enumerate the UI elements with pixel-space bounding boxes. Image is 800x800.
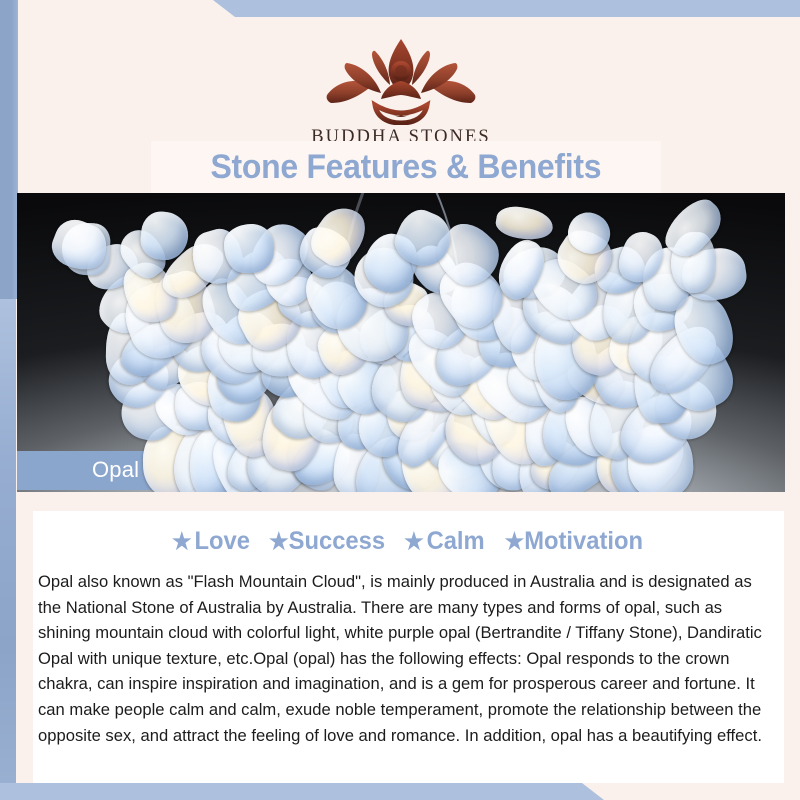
- decorative-band-right-edge: [0, 299, 16, 800]
- benefit-label: Motivation: [524, 527, 643, 556]
- decorative-band-left-edge: [0, 0, 18, 299]
- star-icon: ★: [404, 530, 424, 553]
- star-icon: ★: [172, 530, 192, 553]
- benefit-item: ★Success: [269, 527, 385, 556]
- product-photo: [17, 193, 785, 492]
- lotus-meditation-figure-icon: [317, 37, 485, 125]
- benefit-label: Calm: [427, 527, 485, 556]
- benefit-item: ★Calm: [404, 527, 485, 556]
- stone-name-label: Opal: [92, 450, 139, 489]
- description-text: Opal also known as "Flash Mountain Cloud…: [33, 569, 784, 748]
- decorative-band-bottom-left: [0, 783, 604, 800]
- header: BUDDHA STONES: [18, 17, 784, 141]
- decorative-band-top-right: [213, 0, 800, 17]
- brand-logo-block: BUDDHA STONES: [18, 37, 784, 148]
- page-title: Stone Features & Benefits: [211, 148, 602, 187]
- divider-strip: [33, 492, 784, 511]
- content-panel: ★Love★Success★Calm★Motivation Opal also …: [33, 511, 784, 783]
- benefit-item: ★Love: [172, 527, 250, 556]
- star-icon: ★: [269, 530, 289, 553]
- benefits-row: ★Love★Success★Calm★Motivation: [33, 511, 784, 563]
- infographic-page: BUDDHA STONES Stone Features & Benefits …: [0, 0, 800, 800]
- star-icon: ★: [505, 530, 525, 553]
- benefit-label: Success: [289, 527, 385, 556]
- benefit-item: ★Motivation: [505, 527, 643, 556]
- opal-stone: [224, 223, 274, 273]
- benefit-label: Love: [195, 527, 250, 556]
- title-bar: Stone Features & Benefits: [151, 141, 661, 193]
